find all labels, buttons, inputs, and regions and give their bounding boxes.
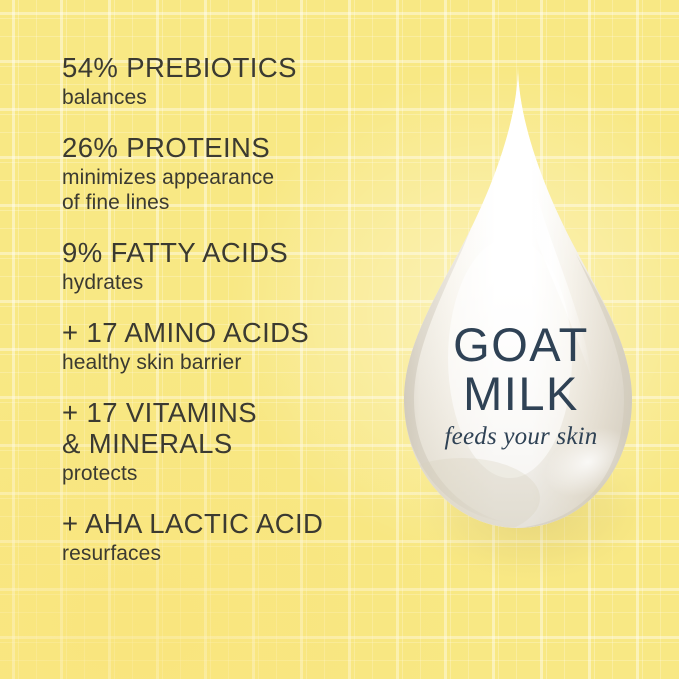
ingredient-title: + AHA LACTIC ACID <box>62 508 392 539</box>
ingredient-description: hydrates <box>62 270 392 295</box>
ingredient-item-aha-lactic-acid: + AHA LACTIC ACID resurfaces <box>62 508 392 566</box>
ingredient-title: + 17 VITAMINS & MINERALS <box>62 397 392 459</box>
ingredient-item-fatty-acids: 9% FATTY ACIDS hydrates <box>62 237 392 295</box>
droplet-body-highlight <box>448 238 572 478</box>
ingredient-title: 9% FATTY ACIDS <box>62 237 392 268</box>
ingredient-description: protects <box>62 461 392 486</box>
infographic-canvas: 54% PREBIOTICS balances 26% PROTEINS min… <box>0 0 679 679</box>
ingredient-description: healthy skin barrier <box>62 350 392 375</box>
ingredient-title: 26% PROTEINS <box>62 132 392 163</box>
ingredient-description: minimizes appearance of fine lines <box>62 165 392 215</box>
ingredient-list: 54% PREBIOTICS balances 26% PROTEINS min… <box>62 52 392 566</box>
milk-droplet-icon <box>392 58 650 558</box>
ingredient-item-proteins: 26% PROTEINS minimizes appearance of fin… <box>62 132 392 215</box>
ingredient-item-prebiotics: 54% PREBIOTICS balances <box>62 52 392 110</box>
ingredient-item-vitamins-minerals: + 17 VITAMINS & MINERALS protects <box>62 397 392 486</box>
ingredient-description: resurfaces <box>62 541 392 566</box>
ingredient-title: + 17 AMINO ACIDS <box>62 317 392 348</box>
ingredient-title: 54% PREBIOTICS <box>62 52 392 83</box>
ingredient-item-amino-acids: + 17 AMINO ACIDS healthy skin barrier <box>62 317 392 375</box>
ingredient-description: balances <box>62 85 392 110</box>
